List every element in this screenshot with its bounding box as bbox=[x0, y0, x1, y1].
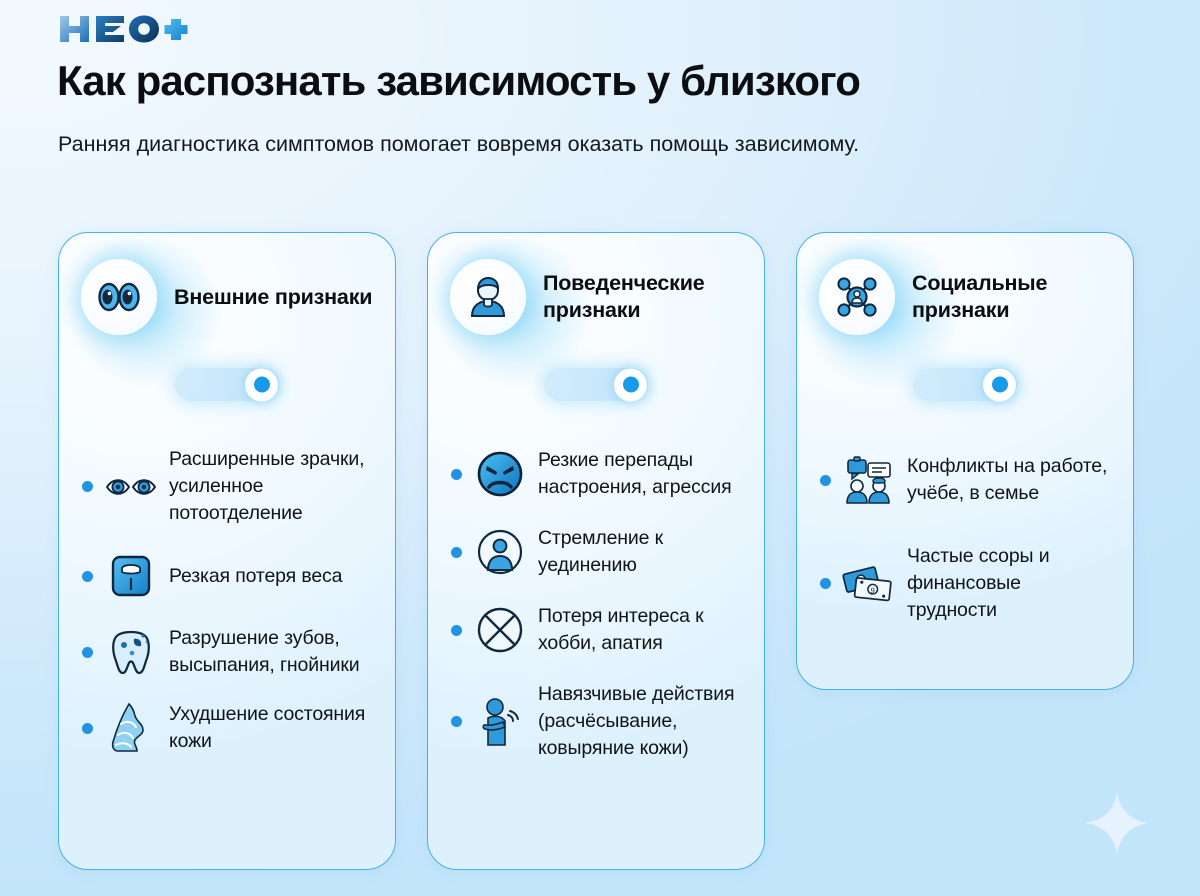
heo-plus-logo-icon bbox=[58, 14, 190, 44]
angry-face-icon bbox=[473, 447, 527, 501]
face-skin-icon bbox=[104, 701, 158, 755]
toggle-knob bbox=[245, 368, 278, 401]
list-item-text: Стремление к уединению bbox=[538, 525, 742, 579]
toggle-row-social bbox=[819, 368, 1111, 401]
bullet-icon bbox=[451, 469, 462, 480]
bullet-icon bbox=[82, 647, 93, 658]
list-item: Стремление к уединению bbox=[450, 513, 742, 591]
tooth-decay-icon bbox=[104, 625, 158, 679]
eyes-icon bbox=[81, 259, 157, 335]
card-header-social: Социальные признаки bbox=[819, 259, 1111, 335]
toggle-social[interactable] bbox=[913, 368, 1017, 401]
card-external-signs: Внешние признаки bbox=[58, 232, 396, 870]
list-item: Разрушение зубов, высыпания, гнойники bbox=[81, 614, 373, 690]
social-network-icon bbox=[819, 259, 895, 335]
bullet-icon bbox=[820, 578, 831, 589]
list-item: Ухудшение состояния кожи bbox=[81, 690, 373, 766]
person-icon bbox=[450, 259, 526, 335]
page-subtitle: Ранняя диагностика симптомов помогает во… bbox=[58, 127, 958, 161]
list-item: Резкая потеря веса bbox=[81, 538, 373, 614]
brand-logo bbox=[58, 14, 190, 44]
signs-cards-row: Внешние признаки bbox=[58, 232, 1148, 870]
page-title: Как распознать зависимость у близкого bbox=[57, 56, 1157, 106]
money-banknotes-icon: 9 bbox=[842, 557, 896, 611]
card-behavioral-signs: Поведенческие признаки bbox=[427, 232, 765, 870]
card-social-signs: Социальные признаки bbox=[796, 232, 1134, 690]
list-item-text: Навязчивые действия (расчёсывание, ковыр… bbox=[538, 681, 742, 762]
no-interest-icon bbox=[473, 603, 527, 657]
list-item-text: Конфликты на работе, учёбе, в семье bbox=[907, 453, 1111, 507]
conflict-people-icon bbox=[842, 453, 896, 507]
card-title-behavioral: Поведенческие признаки bbox=[543, 270, 742, 324]
toggle-row-external bbox=[81, 368, 373, 401]
list-item-text: Разрушение зубов, высыпания, гнойники bbox=[169, 625, 373, 679]
list-item: Конфликты на работе, учёбе, в семье bbox=[819, 435, 1111, 525]
bullet-icon bbox=[451, 547, 462, 558]
bullet-icon bbox=[451, 716, 462, 727]
toggle-row-behavioral bbox=[450, 368, 742, 401]
card-header-behavioral: Поведенческие признаки bbox=[450, 259, 742, 335]
scratching-person-icon bbox=[473, 695, 527, 749]
list-item-text: Резкая потеря веса bbox=[169, 563, 342, 590]
solitude-person-icon bbox=[473, 525, 527, 579]
list-behavioral-signs: Резкие перепады настроения, агрессия Стр… bbox=[450, 435, 742, 774]
list-item-text: Потеря интереса к хобби, апатия bbox=[538, 603, 742, 657]
weight-scale-icon bbox=[104, 549, 158, 603]
bullet-icon bbox=[451, 625, 462, 636]
bullet-icon bbox=[82, 481, 93, 492]
toggle-knob bbox=[983, 368, 1016, 401]
toggle-behavioral[interactable] bbox=[544, 368, 648, 401]
list-item: Потеря интереса к хобби, апатия bbox=[450, 591, 742, 669]
card-header-external: Внешние признаки bbox=[81, 259, 373, 335]
card-title-external: Внешние признаки bbox=[174, 284, 372, 311]
list-social-signs: Конфликты на работе, учёбе, в семье 9 bbox=[819, 435, 1111, 642]
bullet-icon bbox=[820, 475, 831, 486]
dilated-pupils-icon bbox=[104, 460, 158, 514]
list-item-text: Частые ссоры и финансовые трудности bbox=[907, 543, 1111, 624]
list-item-text: Резкие перепады настроения, агрессия bbox=[538, 447, 742, 501]
list-item: Резкие перепады настроения, агрессия bbox=[450, 435, 742, 513]
toggle-knob bbox=[614, 368, 647, 401]
list-item: Навязчивые действия (расчёсывание, ковыр… bbox=[450, 669, 742, 774]
bullet-icon bbox=[82, 723, 93, 734]
list-item: 9 Частые ссоры и финансовые трудности bbox=[819, 525, 1111, 642]
list-item-text: Ухудшение состояния кожи bbox=[169, 701, 373, 755]
list-item: Расширенные зрачки, усиленное потоотделе… bbox=[81, 435, 373, 538]
list-external-signs: Расширенные зрачки, усиленное потоотделе… bbox=[81, 435, 373, 766]
card-title-social: Социальные признаки bbox=[912, 270, 1111, 324]
toggle-external[interactable] bbox=[175, 368, 279, 401]
bullet-icon bbox=[82, 571, 93, 582]
list-item-text: Расширенные зрачки, усиленное потоотделе… bbox=[169, 446, 373, 527]
